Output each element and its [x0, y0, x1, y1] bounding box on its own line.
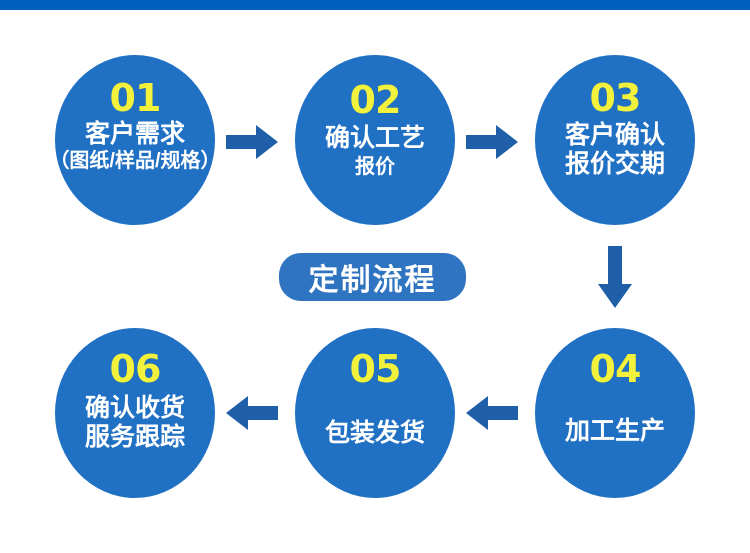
step-label-06-line1: 确认收货	[85, 395, 185, 423]
step-label-01-line1: 客户需求	[85, 121, 185, 149]
step-label-06-line2: 服务跟踪	[85, 424, 185, 452]
process-step-05[interactable]: 05 包装发货	[295, 328, 455, 498]
process-step-06[interactable]: 06 确认收货 服务跟踪	[55, 328, 215, 498]
step-number-02: 02	[350, 81, 401, 119]
step-number-06: 06	[110, 350, 161, 388]
center-title-label: 定制流程	[309, 255, 437, 299]
step-label-01-line2: （图纸/样品/规格）	[49, 150, 220, 172]
arrow-03-to-04-icon	[598, 246, 632, 308]
center-title-badge[interactable]: 定制流程	[279, 253, 466, 301]
step-label-03-line2: 报价交期	[565, 151, 665, 179]
process-step-04[interactable]: 04 加工生产	[535, 328, 695, 498]
flow-diagram-canvas: 01 客户需求 （图纸/样品/规格） 02 确认工艺 报价 03 客户确认 报价…	[0, 0, 750, 553]
arrow-02-to-03-icon	[466, 125, 518, 159]
step-number-05: 05	[350, 350, 401, 388]
arrow-01-to-02-icon	[226, 125, 278, 159]
step-label-04-line1: 加工生产	[565, 418, 665, 446]
step-number-04: 04	[590, 350, 641, 388]
top-accent-bar	[0, 0, 750, 10]
step-label-05-line1: 包装发货	[325, 420, 425, 448]
step-number-01: 01	[110, 79, 161, 117]
step-label-02-line2: 报价	[355, 156, 395, 178]
step-label-02-line1: 确认工艺	[325, 125, 425, 153]
step-number-03: 03	[590, 79, 641, 117]
process-step-01[interactable]: 01 客户需求 （图纸/样品/规格）	[55, 55, 215, 225]
process-step-02[interactable]: 02 确认工艺 报价	[295, 55, 455, 225]
process-step-03[interactable]: 03 客户确认 报价交期	[535, 55, 695, 225]
arrow-05-to-06-icon	[226, 396, 278, 430]
step-label-03-line1: 客户确认	[565, 122, 665, 150]
arrow-04-to-05-icon	[466, 396, 518, 430]
